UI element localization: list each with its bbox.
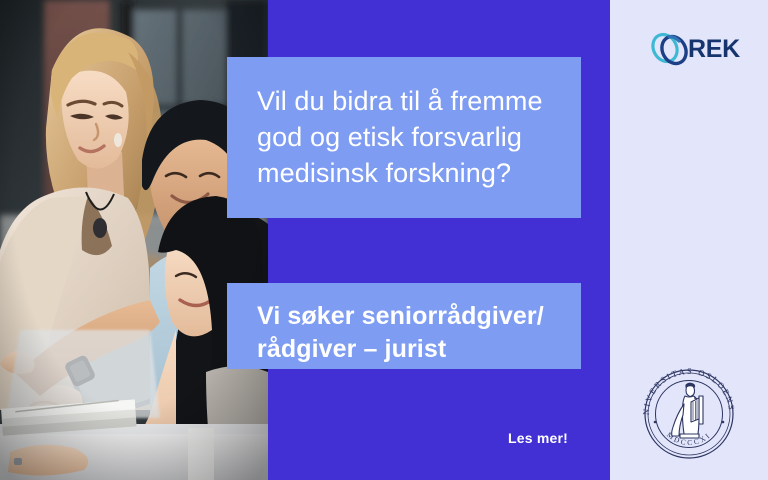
primary-message-line-2: god og etisk forsvarlig (257, 119, 553, 155)
recruitment-banner: Vil du bidra til å fremme god og etisk f… (0, 0, 768, 480)
secondary-message-line-1: Vi søker seniorrådgiver/ (257, 300, 553, 333)
primary-message-line-3: medisinsk forskning? (257, 155, 553, 191)
uio-seal-icon: UNIVERSITAS OSLOENSIS MDCCCXI (637, 362, 741, 466)
rek-logo[interactable]: REK (648, 26, 740, 72)
secondary-message-line-2: rådgiver – jurist (257, 333, 553, 366)
rek-interlocking-rings-icon (648, 27, 692, 71)
rek-wordmark: REK (688, 35, 740, 64)
read-more-link[interactable]: Les mer! (508, 430, 568, 446)
primary-message-line-1: Vil du bidra til å fremme (257, 83, 553, 119)
primary-message-box: Vil du bidra til å fremme god og etisk f… (227, 57, 581, 218)
secondary-message-box: Vi søker seniorrådgiver/ rådgiver – juri… (227, 283, 581, 369)
uio-seal: UNIVERSITAS OSLOENSIS MDCCCXI (637, 362, 741, 466)
